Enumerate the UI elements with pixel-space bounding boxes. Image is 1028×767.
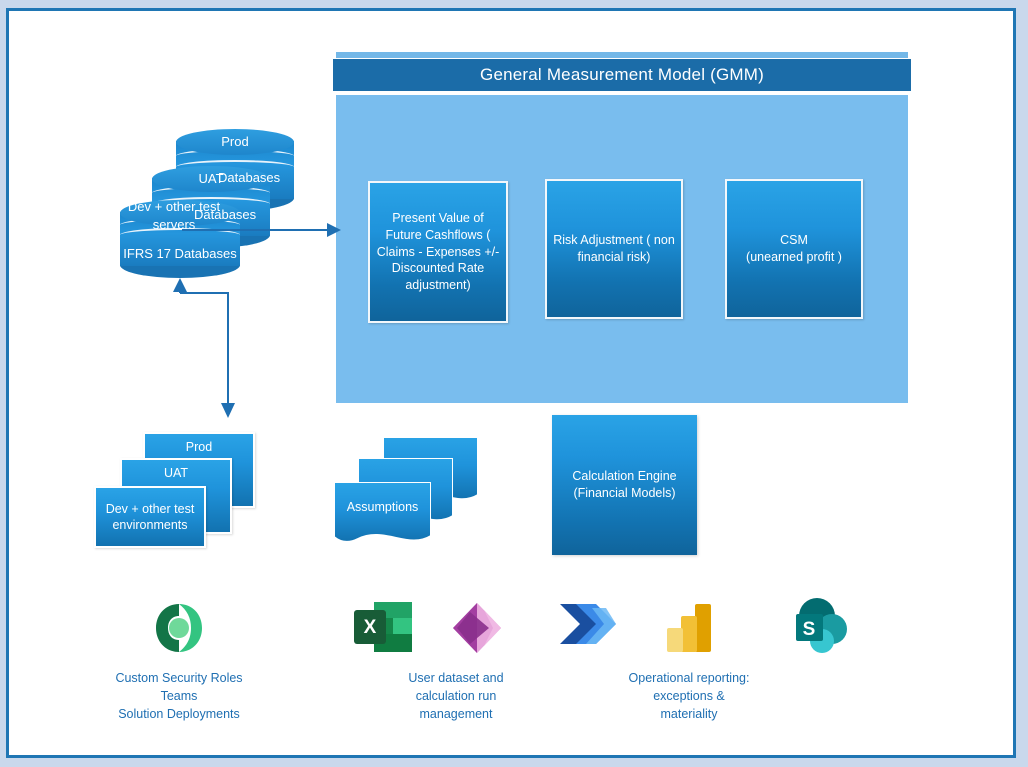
svg-text:S: S (803, 619, 816, 640)
assumptions-label: Assumptions (334, 500, 431, 514)
tool-power-apps-label: User dataset and calculation run managem… (408, 671, 503, 721)
power-automate-icon (552, 600, 622, 655)
tool-power-automate[interactable] (552, 600, 622, 663)
diagram-canvas: General Measurement Model (GMM) Present … (0, 0, 1028, 767)
power-bi-icon (618, 600, 760, 661)
svg-text:X: X (364, 617, 377, 638)
tool-power-apps[interactable]: User dataset and calculation run managem… (386, 600, 526, 724)
environment-card-dev[interactable]: Dev + other test environments (94, 486, 206, 548)
tool-dataverse-label: Custom Security Roles Teams Solution Dep… (115, 671, 242, 721)
tool-power-bi[interactable]: Operational reporting: exceptions & mate… (618, 600, 760, 724)
connector-databases-to-environments (173, 278, 235, 418)
calculation-engine-box[interactable]: Calculation Engine (Financial Models) (552, 415, 697, 555)
assumptions-document-front[interactable]: Assumptions (334, 482, 431, 550)
tool-dataverse[interactable]: Custom Security Roles Teams Solution Dep… (98, 600, 260, 724)
environment-card-label: UAT (122, 466, 230, 480)
cylinder-label-uat: UAT (152, 171, 270, 186)
document-shape-icon (334, 482, 431, 550)
power-apps-icon (428, 600, 526, 661)
tool-sharepoint[interactable]: S (784, 596, 860, 669)
environment-card-label: Prod (145, 440, 253, 454)
dataverse-icon (98, 600, 260, 661)
tool-power-bi-label: Operational reporting: exceptions & mate… (629, 671, 750, 721)
cylinder-label-ifrs17: IFRS 17 Databases (120, 246, 240, 261)
sharepoint-icon: S (784, 596, 860, 661)
cylinder-label-prod: Prod (176, 134, 294, 149)
database-dev-overlay-label: Dev + other test servers (108, 198, 240, 233)
